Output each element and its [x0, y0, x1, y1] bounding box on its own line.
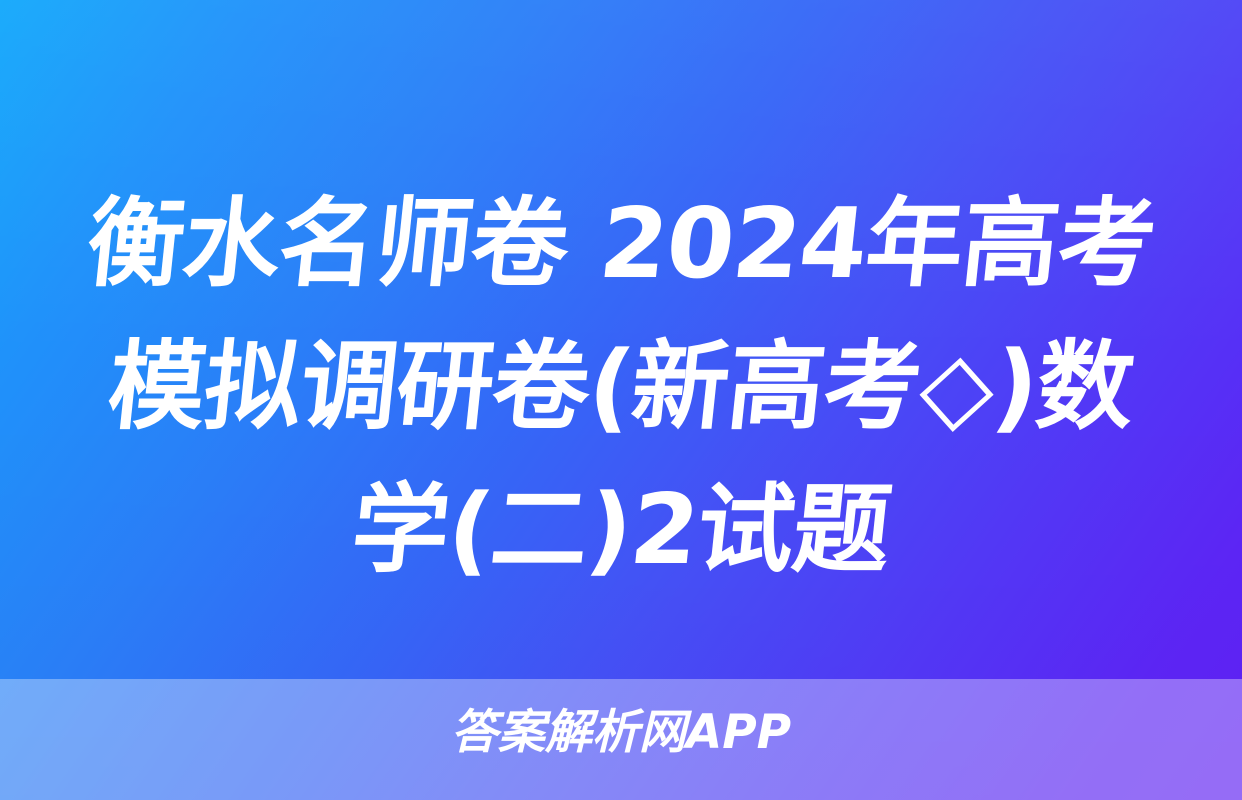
poster-canvas: 衡水名师卷 2024年高考 模拟调研卷(新高考◇)数 学(二)2试题 答案解析网… — [0, 0, 1242, 800]
title-line-1: 衡水名师卷 2024年高考 — [0, 172, 1242, 315]
title-line-3: 学(二)2试题 — [0, 458, 1242, 601]
page-title: 衡水名师卷 2024年高考 模拟调研卷(新高考◇)数 学(二)2试题 — [0, 172, 1242, 601]
title-line-2: 模拟调研卷(新高考◇)数 — [0, 315, 1242, 458]
app-watermark: 答案解析网APP — [0, 705, 1242, 761]
